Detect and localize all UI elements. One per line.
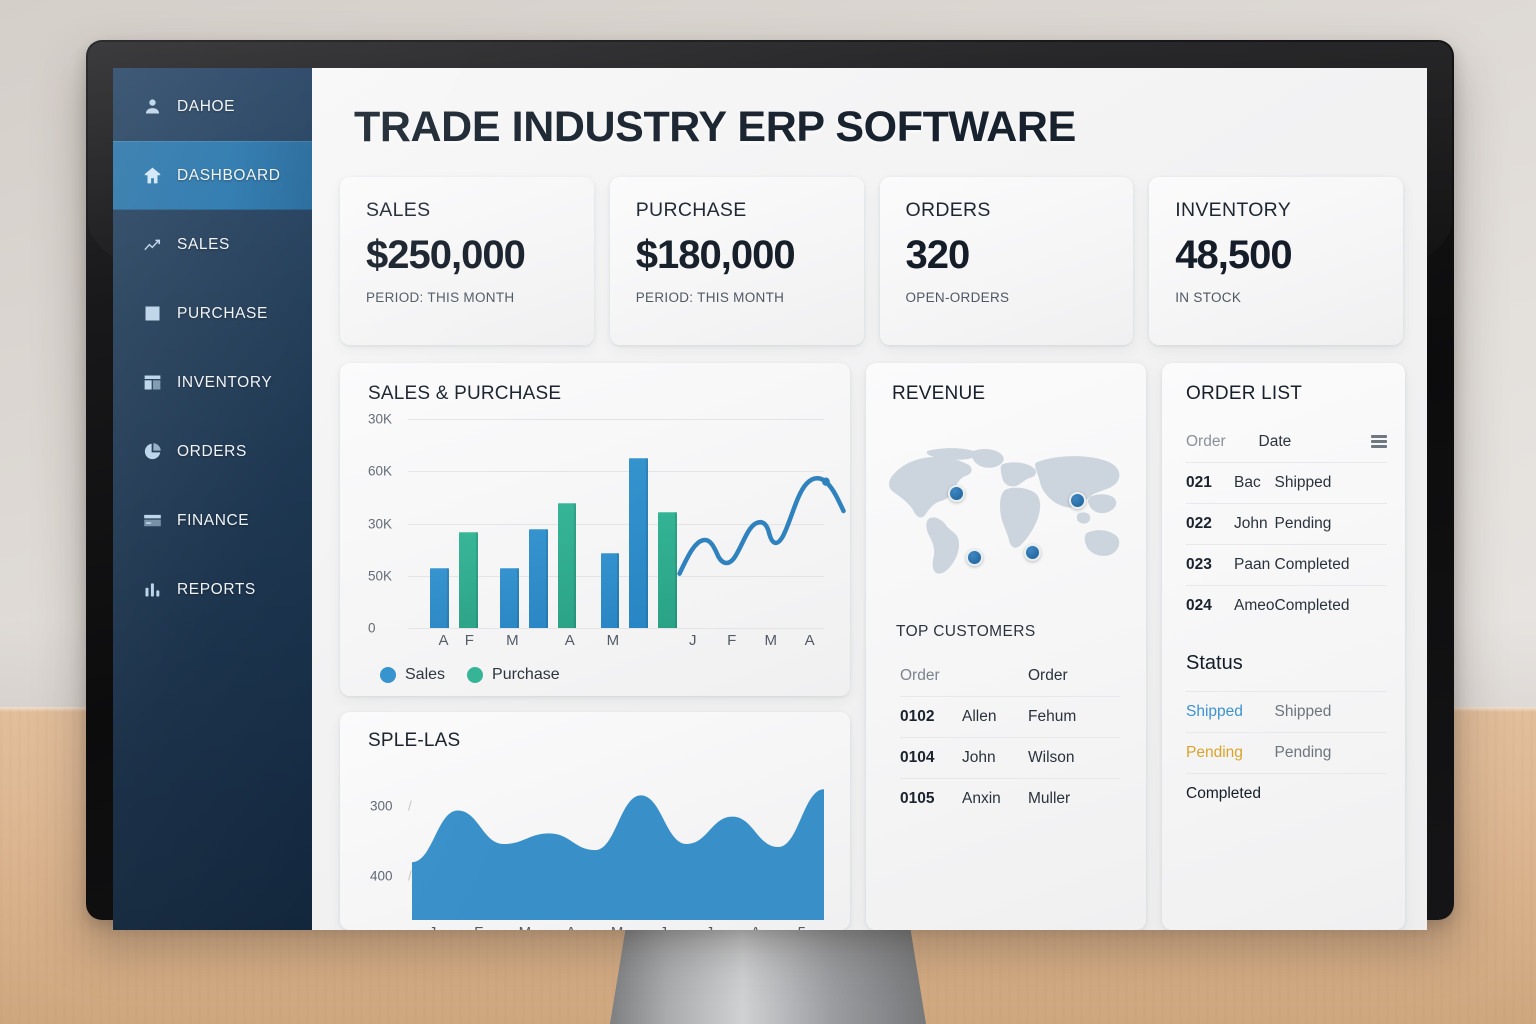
- x-tick-label: F: [465, 632, 474, 649]
- sidebar-item-orders[interactable]: ORDERS: [113, 417, 312, 486]
- kpi-sub: OPEN-ORDERS: [906, 290, 1110, 305]
- cell-right: Muller: [1028, 790, 1120, 808]
- card-title: REVENUE: [866, 383, 1146, 405]
- table-header-row: Order Order: [900, 655, 1120, 696]
- sidebar-item-reports[interactable]: REPORTS: [113, 555, 312, 624]
- left-column: SALES & PURCHASE 30K60K30K50K0 AFMAMJFMA: [340, 363, 850, 930]
- kpi-sub: PERIOD: THIS MONTH: [636, 290, 840, 305]
- trend-line: [414, 419, 824, 628]
- hamburger-icon[interactable]: [1371, 435, 1387, 448]
- revenue-card[interactable]: REVENUE: [866, 363, 1146, 930]
- table-row[interactable]: 0105 Anxin Muller: [900, 778, 1120, 819]
- map-pin[interactable]: [1024, 544, 1041, 561]
- table-row[interactable]: 022 John Pending: [1186, 503, 1387, 544]
- kpi-row: SALES $250,000 PERIOD: THIS MONTH PURCHA…: [340, 177, 1403, 345]
- kpi-card-orders[interactable]: ORDERS 320 OPEN-ORDERS: [880, 177, 1134, 345]
- status-value: Shipped: [1275, 703, 1387, 721]
- area-x-tick: J: [706, 924, 714, 930]
- cell-order-id: 0102: [900, 708, 962, 726]
- receipt-icon: [141, 303, 163, 325]
- trend-line-path: [680, 478, 844, 573]
- cell-name: Anxin: [962, 790, 1028, 808]
- cell-order-id: 021: [1186, 474, 1234, 492]
- world-map[interactable]: [880, 423, 1132, 601]
- x-axis-labels: AFMAMJFMA: [414, 628, 824, 658]
- x-tick-label: M: [607, 632, 620, 649]
- kpi-sub: IN STOCK: [1175, 290, 1379, 305]
- kpi-card-purchase[interactable]: PURCHASE $180,000 PERIOD: THIS MONTH: [610, 177, 864, 345]
- world-map-shapes: [880, 423, 1132, 601]
- chart-legend: Sales Purchase: [380, 666, 828, 684]
- middle-column: REVENUE: [866, 363, 1146, 930]
- sales-purchase-plot: 30K60K30K50K0 AFMAMJFMA: [368, 419, 828, 628]
- area-plot: 300/400/ JFMAMJJA5: [368, 762, 828, 920]
- column-header-order: Order: [1186, 433, 1234, 451]
- kpi-card-sales[interactable]: SALES $250,000 PERIOD: THIS MONTH: [340, 177, 594, 345]
- table-row[interactable]: 021 Bac Shipped: [1186, 462, 1387, 503]
- sidebar-item-dashboard[interactable]: DASHBOARD: [113, 141, 312, 210]
- monitor-bezel: DAHOE DASHBOARD SALES: [86, 40, 1454, 920]
- map-pin[interactable]: [966, 549, 983, 566]
- y-tick-label: 30K: [368, 412, 392, 427]
- kpi-label: ORDERS: [906, 199, 1110, 222]
- sidebar: DAHOE DASHBOARD SALES: [113, 68, 312, 930]
- x-tick-label: J: [689, 632, 697, 649]
- card-title: SPLE-LAS: [368, 730, 828, 752]
- trend-line-marker[interactable]: [822, 478, 830, 486]
- cell-status: Completed: [1275, 597, 1387, 615]
- cell-order-id: 023: [1186, 556, 1234, 574]
- area-series: [412, 768, 824, 920]
- sidebar-item-inventory[interactable]: INVENTORY: [113, 348, 312, 417]
- area-x-tick: M: [519, 924, 532, 930]
- sidebar-item-label: SALES: [177, 236, 230, 254]
- sales-purchase-chart-card[interactable]: SALES & PURCHASE 30K60K30K50K0 AFMAMJFMA: [340, 363, 850, 696]
- status-badge: Pending: [1186, 744, 1275, 762]
- cell-order-id: 0105: [900, 790, 962, 808]
- status-badge: Completed: [1186, 785, 1275, 803]
- sidebar-item-label: PURCHASE: [177, 305, 268, 323]
- area-x-tick: J: [429, 924, 437, 930]
- cell-name: Paan: [1234, 556, 1275, 574]
- boxes-icon: [141, 372, 163, 394]
- status-row[interactable]: Shipped Shipped: [1186, 691, 1387, 732]
- sidebar-item-label: ORDERS: [177, 443, 247, 461]
- card-title: SALES & PURCHASE: [368, 383, 828, 405]
- area-y-tick: 300: [370, 799, 393, 814]
- area-x-tick: M: [611, 924, 624, 930]
- x-tick-label: M: [764, 632, 777, 649]
- user-icon: [141, 96, 163, 118]
- sidebar-item-label: DASHBOARD: [177, 167, 281, 185]
- sidebar-item-sales[interactable]: SALES: [113, 210, 312, 279]
- sidebar-item-label: INVENTORY: [177, 374, 272, 392]
- area-x-tick: A: [566, 924, 576, 930]
- legend-label: Sales: [405, 666, 445, 684]
- status-value: Pending: [1275, 744, 1387, 762]
- cell-name: John: [1234, 515, 1275, 533]
- kpi-card-inventory[interactable]: INVENTORY 48,500 IN STOCK: [1149, 177, 1403, 345]
- table-row[interactable]: 0104 John Wilson: [900, 737, 1120, 778]
- top-customers-title: TOP CUSTOMERS: [896, 623, 1146, 641]
- order-list-card[interactable]: ORDER LIST Order Date 021: [1162, 363, 1405, 930]
- cell-right: Wilson: [1028, 749, 1120, 767]
- sidebar-item-label: FINANCE: [177, 512, 249, 530]
- right-column: ORDER LIST Order Date 021: [1162, 363, 1405, 930]
- area-x-labels: JFMAMJJA5: [412, 920, 824, 930]
- cell-name: Ameo: [1234, 597, 1275, 615]
- y-tick-label: 0: [368, 621, 376, 636]
- area-path: [412, 789, 824, 920]
- kpi-label: SALES: [366, 199, 570, 222]
- y-tick-label: 60K: [368, 464, 392, 479]
- kpi-value: 48,500: [1175, 234, 1379, 276]
- kpi-sub: PERIOD: THIS MONTH: [366, 290, 570, 305]
- order-table-header: Order Date: [1186, 421, 1387, 462]
- x-tick-label: A: [565, 632, 575, 649]
- top-customers-table: Order Order 0102 Allen Fehum: [900, 655, 1120, 819]
- table-row[interactable]: 024 Ameo Completed: [1186, 585, 1387, 626]
- sidebar-item-label: REPORTS: [177, 581, 256, 599]
- main-content: TRADE INDUSTRY ERP SOFTWARE SALES $250,0…: [312, 68, 1427, 930]
- cell-right: Fehum: [1028, 708, 1120, 726]
- status-section-title: Status: [1162, 632, 1405, 675]
- order-list-table: Order Date 021 Bac Shipped: [1186, 421, 1387, 626]
- trend-up-icon: [141, 234, 163, 256]
- sidebar-item-finance[interactable]: FINANCE: [113, 486, 312, 555]
- kpi-value: $250,000: [366, 234, 570, 276]
- splelas-area-chart-card[interactable]: SPLE-LAS 300/400/ JFMAMJJA5: [340, 712, 850, 930]
- status-row[interactable]: Pending Pending: [1186, 732, 1387, 773]
- cell-status: Completed: [1275, 556, 1387, 574]
- area-x-tick: J: [660, 924, 668, 930]
- cell-order-id: 024: [1186, 597, 1234, 615]
- kpi-value: $180,000: [636, 234, 840, 276]
- legend-dot-purchase: [467, 667, 483, 683]
- table-row[interactable]: 023 Paan Completed: [1186, 544, 1387, 585]
- sidebar-item-dahoe[interactable]: DAHOE: [113, 72, 312, 141]
- card-title: ORDER LIST: [1162, 383, 1405, 405]
- cell-status: Pending: [1275, 515, 1387, 533]
- cell-order-id: 0104: [900, 749, 962, 767]
- pie-chart-icon: [141, 441, 163, 463]
- kpi-label: INVENTORY: [1175, 199, 1379, 222]
- sidebar-item-label: DAHOE: [177, 98, 235, 116]
- column-header-order: Order: [900, 667, 962, 685]
- x-tick-label: M: [506, 632, 519, 649]
- lower-grid: SALES & PURCHASE 30K60K30K50K0 AFMAMJFMA: [340, 363, 1403, 930]
- sidebar-item-purchase[interactable]: PURCHASE: [113, 279, 312, 348]
- area-x-tick: F: [474, 924, 483, 930]
- kpi-value: 320: [906, 234, 1110, 276]
- x-tick-label: A: [439, 632, 449, 649]
- x-tick-label: A: [805, 632, 815, 649]
- area-y-tick: 400: [370, 868, 393, 883]
- page-title: TRADE INDUSTRY ERP SOFTWARE: [354, 106, 1403, 149]
- card-icon: [141, 510, 163, 532]
- cell-order-id: 022: [1186, 515, 1234, 533]
- home-icon: [141, 165, 163, 187]
- table-row[interactable]: 0102 Allen Fehum: [900, 696, 1120, 737]
- scene-backdrop: DAHOE DASHBOARD SALES: [0, 0, 1536, 1024]
- legend-item-sales[interactable]: Sales: [380, 666, 445, 684]
- cell-status: Shipped: [1275, 474, 1387, 492]
- column-header-order-2: Order: [1028, 667, 1120, 685]
- cell-name: John: [962, 749, 1028, 767]
- bar-chart-icon: [141, 579, 163, 601]
- cell-name: Allen: [962, 708, 1028, 726]
- screen: DAHOE DASHBOARD SALES: [113, 68, 1427, 930]
- legend-dot-sales: [380, 667, 396, 683]
- kpi-label: PURCHASE: [636, 199, 840, 222]
- status-badge: Shipped: [1186, 703, 1275, 721]
- x-tick-label: F: [727, 632, 736, 649]
- status-table: Shipped Shipped Pending Pending Complete…: [1186, 691, 1387, 814]
- status-row[interactable]: Completed: [1186, 773, 1387, 814]
- area-x-tick: A: [751, 924, 761, 930]
- column-header-date: Date: [1259, 433, 1371, 451]
- cell-name: Bac: [1234, 474, 1275, 492]
- legend-item-purchase[interactable]: Purchase: [467, 666, 560, 684]
- y-tick-label: 30K: [368, 516, 392, 531]
- legend-label: Purchase: [492, 666, 560, 684]
- area-x-tick: 5: [798, 924, 806, 930]
- y-tick-label: 50K: [368, 568, 392, 583]
